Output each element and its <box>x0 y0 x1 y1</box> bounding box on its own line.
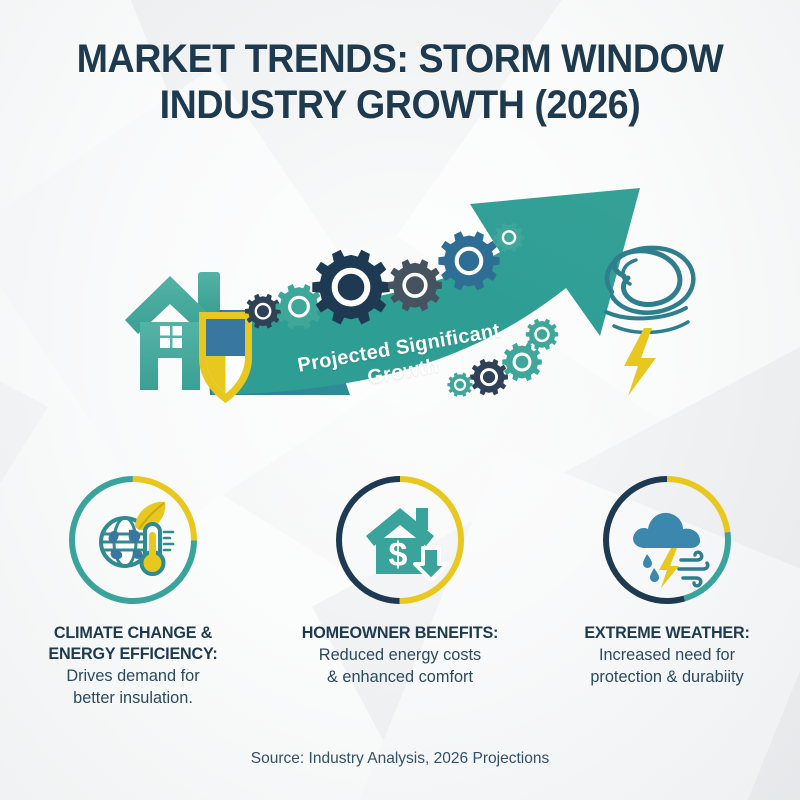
page-title: MARKET TRENDS: STORM WINDOW INDUSTRY GRO… <box>0 36 800 128</box>
feature-icon-ring <box>63 470 203 610</box>
gear-tiny-teal <box>447 373 472 397</box>
hero-growth-graphic: Projected Significant Growth <box>0 160 800 450</box>
feature-description: Drives demand for better insulation. <box>13 665 253 709</box>
feature-heading-line-1: HOMEOWNER BENEFITS: <box>302 623 498 642</box>
lightning-bolt-icon <box>659 548 679 588</box>
feature-desc-line-1: Reduced energy costs <box>319 645 481 664</box>
feature-text-block: CLIMATE CHANGE & ENERGY EFFICIENCY: Driv… <box>8 622 258 709</box>
storm-cloud-icon <box>633 513 700 548</box>
svg-text:$: $ <box>389 536 408 574</box>
feature-homeowner-benefits: $ HOMEOWNER BENEFITS: Reduced energy cos… <box>267 470 534 709</box>
feature-heading: HOMEOWNER BENEFITS: <box>281 622 519 643</box>
title-line-1: MARKET TRENDS: STORM WINDOW <box>24 36 776 82</box>
wind-lines-icon <box>679 552 708 586</box>
source-attribution: Source: Industry Analysis, 2026 Projecti… <box>12 750 788 768</box>
feature-heading-line-1: CLIMATE CHANGE & <box>54 623 212 642</box>
title-line-2: INDUSTRY GROWTH (2026) <box>24 82 776 128</box>
feature-heading: CLIMATE CHANGE & ENERGY EFFICIENCY: <box>15 622 253 664</box>
feature-icon-ring <box>597 470 737 610</box>
feature-heading-line-1: EXTREME WEATHER: <box>584 623 749 642</box>
thermometer-icon <box>142 524 174 574</box>
house-window-icon <box>160 326 182 348</box>
feature-desc-line-1: Drives demand for <box>67 666 200 685</box>
house-dollar-icon: $ <box>366 508 447 580</box>
feature-heading-line-2: ENERGY EFFICIENCY: <box>49 644 218 663</box>
feature-list: CLIMATE CHANGE & ENERGY EFFICIENCY: Driv… <box>0 470 800 709</box>
feature-description: Reduced energy costs & enhanced comfort <box>280 644 520 688</box>
feature-climate-change: CLIMATE CHANGE & ENERGY EFFICIENCY: Driv… <box>0 470 267 709</box>
lightning-bolt-icon <box>624 328 656 396</box>
feature-desc-line-2: better insulation. <box>73 688 193 707</box>
feature-desc-line-2: & enhanced comfort <box>327 667 473 686</box>
feature-text-block: EXTREME WEATHER: Increased need for prot… <box>542 622 792 688</box>
feature-desc-line-2: protection & durabiity <box>590 667 743 686</box>
rain-drops-icon <box>643 554 659 582</box>
feature-extreme-weather: EXTREME WEATHER: Increased need for prot… <box>533 470 800 709</box>
feature-icon-ring: $ <box>330 470 470 610</box>
feature-desc-line-1: Increased need for <box>599 645 735 664</box>
feature-text-block: HOMEOWNER BENEFITS: Reduced energy costs… <box>275 622 525 688</box>
feature-heading: EXTREME WEATHER: <box>548 622 786 643</box>
feature-description: Increased need for protection & durabiit… <box>547 644 787 688</box>
hurricane-swirl-icon <box>606 248 693 333</box>
infographic-canvas: MARKET TRENDS: STORM WINDOW INDUSTRY GRO… <box>0 0 800 800</box>
